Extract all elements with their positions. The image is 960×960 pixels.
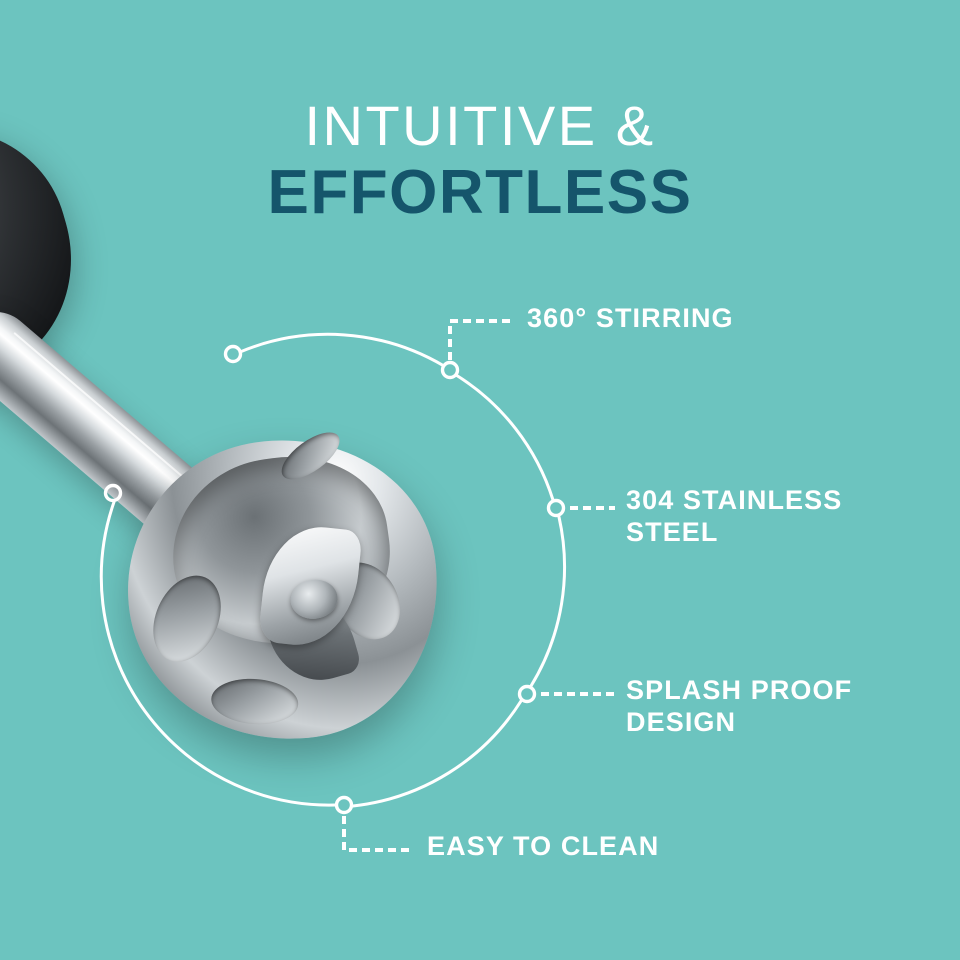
- infographic-canvas: INTUITIVE & EFFORTLESS: [0, 0, 960, 960]
- callout-label-stirring: 360° STIRRING: [527, 303, 734, 335]
- arc-segment-right: [531, 517, 565, 686]
- arc-segment-top: [240, 334, 444, 366]
- node-endpoint-left: [106, 486, 121, 501]
- node-easy-to-clean: [337, 798, 352, 813]
- arc-segment-lower-right: [353, 701, 521, 806]
- callout-label-stainless-steel: 304 STAINLESS STEEL: [626, 485, 842, 549]
- arc-segment-upper-right: [456, 375, 553, 500]
- leader-easy-to-clean: [344, 818, 415, 850]
- callout-label-easy-to-clean: EASY TO CLEAN: [427, 831, 659, 863]
- node-stirring: [443, 363, 458, 378]
- node-endpoint-top: [226, 347, 241, 362]
- node-stainless-steel: [549, 501, 564, 516]
- arc-segment-left: [101, 502, 335, 805]
- callout-label-splash-proof: SPLASH PROOF DESIGN: [626, 675, 852, 739]
- node-splash-proof: [520, 687, 535, 702]
- callout-diagram: [0, 0, 960, 960]
- leader-stirring: [450, 321, 515, 358]
